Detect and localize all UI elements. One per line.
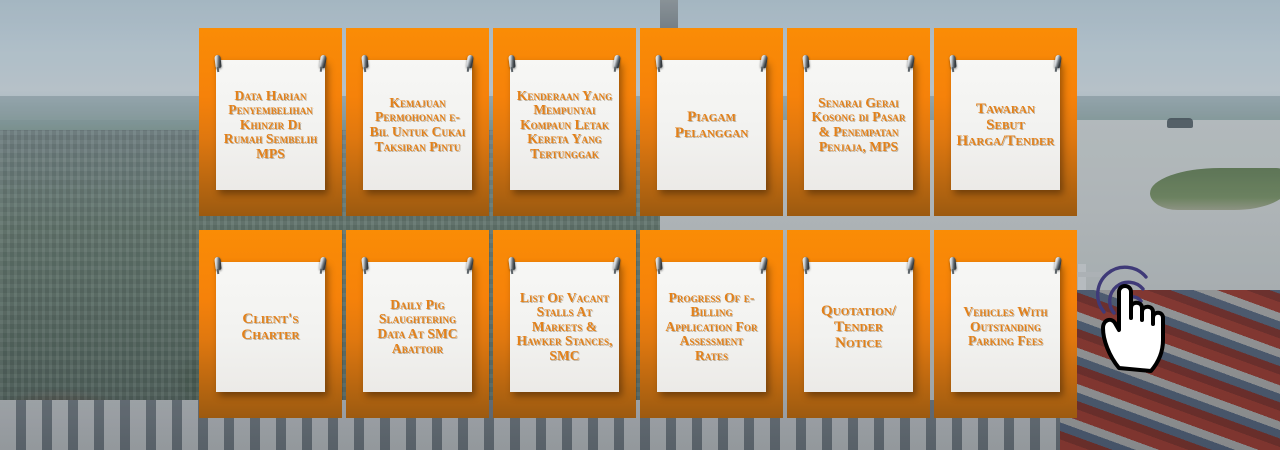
card-sheet: List Of Vacant Stalls At Markets & Hawke… <box>510 262 619 392</box>
pin-clip-icon <box>613 55 621 69</box>
pin-clip-icon <box>214 257 222 271</box>
service-card-daily-pig-slaughtering-data[interactable]: Daily Pig Slaughtering Data At SMC Abatt… <box>346 230 489 418</box>
card-title: Tawaran Sebut Harga/Tender <box>956 101 1055 150</box>
card-sheet: Quotation/ Tender Notice <box>804 262 913 392</box>
pin-clip-icon <box>907 55 915 69</box>
card-sheet: Daily Pig Slaughtering Data At SMC Abatt… <box>363 262 472 392</box>
card-sheet: Tawaran Sebut Harga/Tender <box>951 60 1060 190</box>
pin-clip-icon <box>1054 257 1062 271</box>
service-card-piagam-pelanggan[interactable]: Piagam Pelanggan <box>640 28 783 216</box>
page-stage: Data Harian Penyembelihan Khinzir Di Rum… <box>0 0 1280 450</box>
pin-clip-icon <box>655 55 663 69</box>
service-card-kemajuan-permohonan-ebil[interactable]: Kemajuan Permohonan e-Bil Untuk Cukai Ta… <box>346 28 489 216</box>
card-title: Senarai Gerai Kosong di Pasar & Penempat… <box>809 96 908 154</box>
card-row-1: Data Harian Penyembelihan Khinzir Di Rum… <box>199 28 1081 216</box>
card-title: Vehicles With Outstanding Parking Fees <box>956 305 1055 349</box>
card-sheet: Piagam Pelanggan <box>657 60 766 190</box>
service-card-kenderaan-kompaun-letak-kereta[interactable]: Kenderaan Yang Mempunyai Kompaun Letak K… <box>493 28 636 216</box>
pin-clip-icon <box>907 257 915 271</box>
pin-clip-icon <box>802 257 810 271</box>
card-title: Client's Charter <box>221 311 320 343</box>
service-card-data-harian-penyembelihan[interactable]: Data Harian Penyembelihan Khinzir Di Rum… <box>199 28 342 216</box>
card-title: Quotation/ Tender Notice <box>809 303 908 352</box>
card-sheet: Client's Charter <box>216 262 325 392</box>
pin-clip-icon <box>1054 55 1062 69</box>
pin-clip-icon <box>949 257 957 271</box>
pin-clip-icon <box>949 55 957 69</box>
card-sheet: Progress Of e-Billing Application For As… <box>657 262 766 392</box>
pin-clip-icon <box>802 55 810 69</box>
pin-clip-icon <box>613 257 621 271</box>
card-title: Data Harian Penyembelihan Khinzir Di Rum… <box>221 89 320 162</box>
card-sheet: Senarai Gerai Kosong di Pasar & Penempat… <box>804 60 913 190</box>
pin-clip-icon <box>466 55 474 69</box>
service-card-progress-of-ebilling-application[interactable]: Progress Of e-Billing Application For As… <box>640 230 783 418</box>
service-card-grid: Data Harian Penyembelihan Khinzir Di Rum… <box>199 28 1081 418</box>
pin-clip-icon <box>319 55 327 69</box>
card-sheet: Data Harian Penyembelihan Khinzir Di Rum… <box>216 60 325 190</box>
card-title: Piagam Pelanggan <box>662 109 761 141</box>
service-card-tawaran-sebut-harga-tender[interactable]: Tawaran Sebut Harga/Tender <box>934 28 1077 216</box>
pin-clip-icon <box>319 257 327 271</box>
card-row-2: Client's Charter Daily Pig Slaughtering … <box>199 230 1081 418</box>
card-title: Progress Of e-Billing Application For As… <box>662 291 761 364</box>
pin-clip-icon <box>361 257 369 271</box>
pin-clip-icon <box>466 257 474 271</box>
card-sheet: Vehicles With Outstanding Parking Fees <box>951 262 1060 392</box>
card-title: Daily Pig Slaughtering Data At SMC Abatt… <box>368 298 467 356</box>
card-title: List Of Vacant Stalls At Markets & Hawke… <box>515 291 614 364</box>
pin-clip-icon <box>361 55 369 69</box>
service-card-list-of-vacant-stalls[interactable]: List Of Vacant Stalls At Markets & Hawke… <box>493 230 636 418</box>
service-card-clients-charter[interactable]: Client's Charter <box>199 230 342 418</box>
pin-clip-icon <box>214 55 222 69</box>
pin-clip-icon <box>760 55 768 69</box>
card-title: Kemajuan Permohonan e-Bil Untuk Cukai Ta… <box>368 96 467 154</box>
service-card-quotation-tender-notice[interactable]: Quotation/ Tender Notice <box>787 230 930 418</box>
pin-clip-icon <box>508 55 516 69</box>
service-card-vehicles-with-outstanding-parking-fees[interactable]: Vehicles With Outstanding Parking Fees <box>934 230 1077 418</box>
pin-clip-icon <box>760 257 768 271</box>
card-title: Kenderaan Yang Mempunyai Kompaun Letak K… <box>515 89 614 162</box>
pin-clip-icon <box>508 257 516 271</box>
card-sheet: Kenderaan Yang Mempunyai Kompaun Letak K… <box>510 60 619 190</box>
card-sheet: Kemajuan Permohonan e-Bil Untuk Cukai Ta… <box>363 60 472 190</box>
service-card-senarai-gerai-kosong[interactable]: Senarai Gerai Kosong di Pasar & Penempat… <box>787 28 930 216</box>
pin-clip-icon <box>655 257 663 271</box>
